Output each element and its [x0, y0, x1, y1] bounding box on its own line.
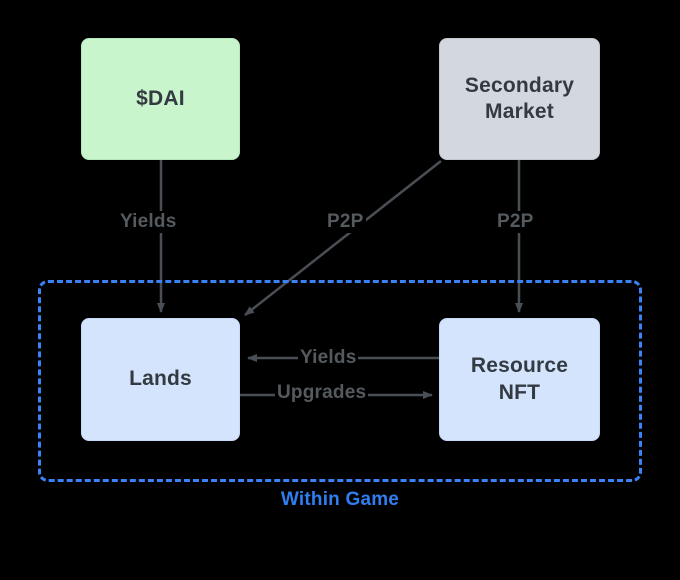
node-dai-label: $DAI: [136, 86, 185, 112]
node-lands[interactable]: Lands: [81, 318, 240, 441]
node-secondary-market-label-line2: Market: [465, 99, 574, 125]
node-dai[interactable]: $DAI: [81, 38, 240, 160]
edge-label-lands-to-resource: Upgrades: [275, 382, 368, 404]
node-lands-label: Lands: [129, 366, 192, 392]
node-resource-nft[interactable]: Resource NFT: [439, 318, 600, 441]
node-secondary-market-label-line1: Secondary: [465, 73, 574, 99]
edge-label-dai-to-lands: Yields: [118, 211, 178, 233]
edge-label-market-to-resource: P2P: [495, 211, 536, 233]
edge-label-market-to-lands: P2P: [325, 211, 366, 233]
diagram-canvas: $DAI Secondary Market Lands Resource NFT…: [0, 0, 680, 580]
node-resource-nft-label-line2: NFT: [471, 380, 568, 406]
cluster-label-within-game: Within Game: [0, 489, 680, 511]
node-secondary-market[interactable]: Secondary Market: [439, 38, 600, 160]
node-resource-nft-label-line1: Resource: [471, 353, 568, 379]
edge-label-resource-to-lands: Yields: [298, 347, 358, 369]
